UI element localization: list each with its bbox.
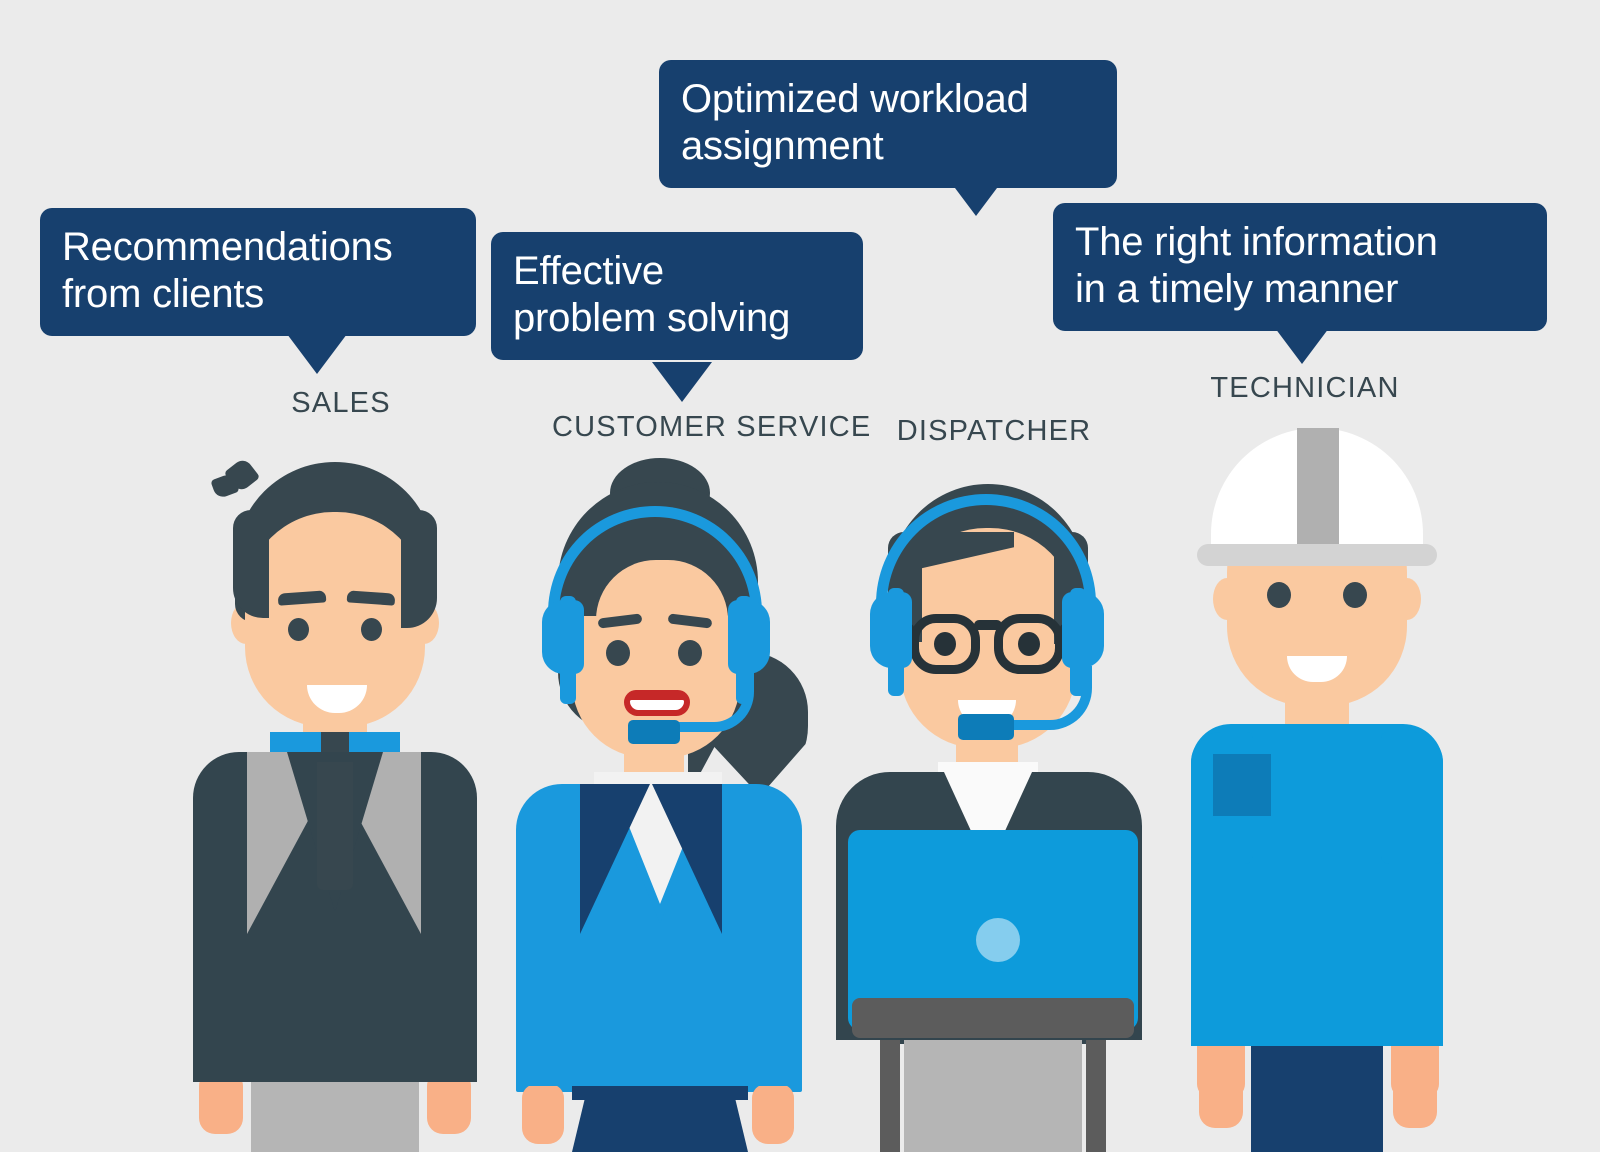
sales-eye-right [361, 618, 382, 641]
speech-bubble-sales: Recommendations from clients [40, 208, 476, 336]
cs-hand-left [522, 1084, 564, 1144]
headset-arm-left-icon [560, 596, 576, 704]
tech-hand-left [1199, 1070, 1243, 1128]
tech-eye-left [1267, 582, 1291, 608]
dispatcher-headset-arm-left-icon [888, 588, 904, 696]
avatar-sales [175, 440, 495, 1152]
tech-hand-right [1393, 1070, 1437, 1128]
avatar-technician [1155, 422, 1485, 1152]
tech-trousers [1251, 1036, 1383, 1152]
cs-eye-right [678, 640, 702, 666]
role-label-customer-service: CUSTOMER SERVICE [552, 411, 802, 444]
speech-bubble-customer-service: Effective problem solving [491, 232, 863, 360]
role-label-technician: TECHNICIAN [1180, 372, 1430, 405]
speech-bubble-dispatcher: Optimized workload assignment [659, 60, 1117, 188]
role-label-dispatcher: DISPATCHER [869, 415, 1119, 448]
infographic-canvas: Optimized workload assignment Recommenda… [0, 0, 1600, 1152]
hard-hat-stripe-icon [1297, 428, 1339, 546]
cs-lapel-right [652, 784, 722, 934]
speech-bubble-tail-customer-service [652, 362, 712, 402]
tech-shirt-pocket [1213, 754, 1271, 816]
sales-eye-left [288, 618, 309, 641]
speech-bubble-tail-sales [287, 334, 347, 374]
eyeglasses-lens-left-icon [910, 614, 980, 674]
sales-tie [317, 762, 353, 890]
cs-hand-right [752, 1084, 794, 1144]
speech-bubble-tail-technician [1272, 324, 1332, 364]
avatar-dispatcher [828, 462, 1158, 1152]
tech-eye-right [1343, 582, 1367, 608]
avatar-customer-service [500, 472, 820, 1152]
laptop-logo-icon [976, 918, 1020, 962]
tech-sleeve-right [1381, 732, 1443, 864]
desk-surface [852, 998, 1134, 1038]
dispatcher-headset-microphone-icon [958, 714, 1014, 740]
cs-eye-left [606, 640, 630, 666]
eyeglasses-lens-right-icon [994, 614, 1064, 674]
eyeglasses-bridge-icon [974, 620, 1002, 630]
hard-hat-brim-icon [1197, 544, 1437, 566]
cs-lapel-left [580, 784, 650, 934]
speech-bubble-tail-dispatcher [946, 176, 1006, 216]
role-label-sales: SALES [216, 387, 466, 420]
desk-leg-right [1086, 1034, 1106, 1152]
dispatcher-chair [904, 1022, 1082, 1152]
cs-teeth [630, 700, 684, 710]
desk-leg-left [880, 1034, 900, 1152]
dispatcher-headset-band-icon [876, 494, 1096, 604]
speech-bubble-technician: The right information in a timely manner [1053, 203, 1547, 331]
headset-microphone-icon [628, 720, 680, 744]
sales-hair-side-left [233, 510, 269, 618]
sales-hair-side-right [401, 510, 437, 628]
